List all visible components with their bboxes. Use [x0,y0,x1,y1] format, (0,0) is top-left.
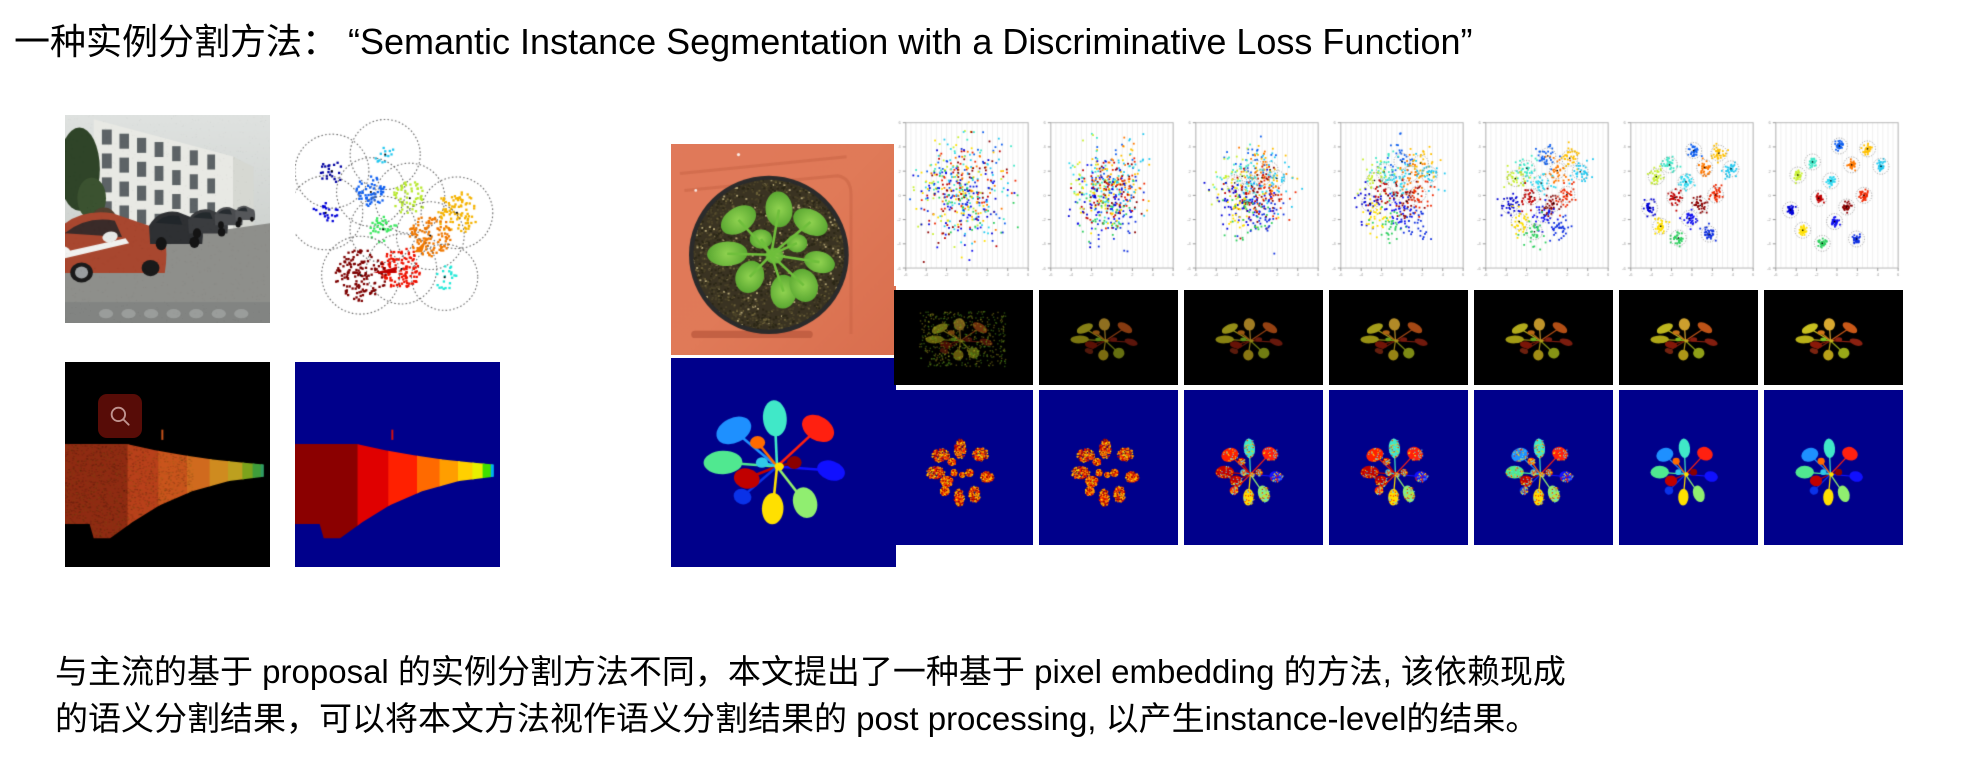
instance-mask-0 [894,390,1033,545]
ground-truth-mask [671,358,896,567]
embedding-heatmap-2 [1184,290,1323,385]
instance-mask-4 [1474,390,1613,545]
instance-segmentation [295,362,500,567]
embedding-heatmap-4 [1474,290,1613,385]
plant-photo [671,144,896,355]
embedding-scatter-3 [1329,115,1468,286]
page-title: 一种实例分割方法： “Semantic Instance Segmentatio… [14,18,1914,66]
instance-mask-5 [1619,390,1758,545]
embedding-scatter-2 [1184,115,1323,286]
caption-line-1: 与主流的基于 proposal 的实例分割方法不同，本文提出了一种基于 pixe… [55,648,1935,695]
caption-block: 与主流的基于 proposal 的实例分割方法不同，本文提出了一种基于 pixe… [55,648,1935,742]
caption-line-2: 的语义分割结果，可以将本文方法视作语义分割结果的 post processing… [55,695,1935,742]
embedding-heatmap-1 [1039,290,1178,385]
instance-mask-1 [1039,390,1178,545]
embedding-cluster-plot [295,115,500,323]
embedding-heatmap-6 [1764,290,1903,385]
search-icon[interactable] [98,394,142,438]
embedding-scatter-6 [1764,115,1903,286]
figure-area [0,105,1971,585]
instance-mask-3 [1329,390,1468,545]
embedding-scatter-0 [894,115,1033,286]
instance-mask-6 [1764,390,1903,545]
embedding-heatmap-3 [1329,290,1468,385]
embedding-heatmap-5 [1619,290,1758,385]
instance-mask-2 [1184,390,1323,545]
embedding-scatter-4 [1474,115,1613,286]
embedding-heatmap-0 [894,290,1033,385]
embedding-scatter-1 [1039,115,1178,286]
slide-root: 一种实例分割方法： “Semantic Instance Segmentatio… [0,0,1971,763]
embedding-overlay [65,362,270,567]
street-photo [65,115,270,323]
embedding-scatter-5 [1619,115,1758,286]
